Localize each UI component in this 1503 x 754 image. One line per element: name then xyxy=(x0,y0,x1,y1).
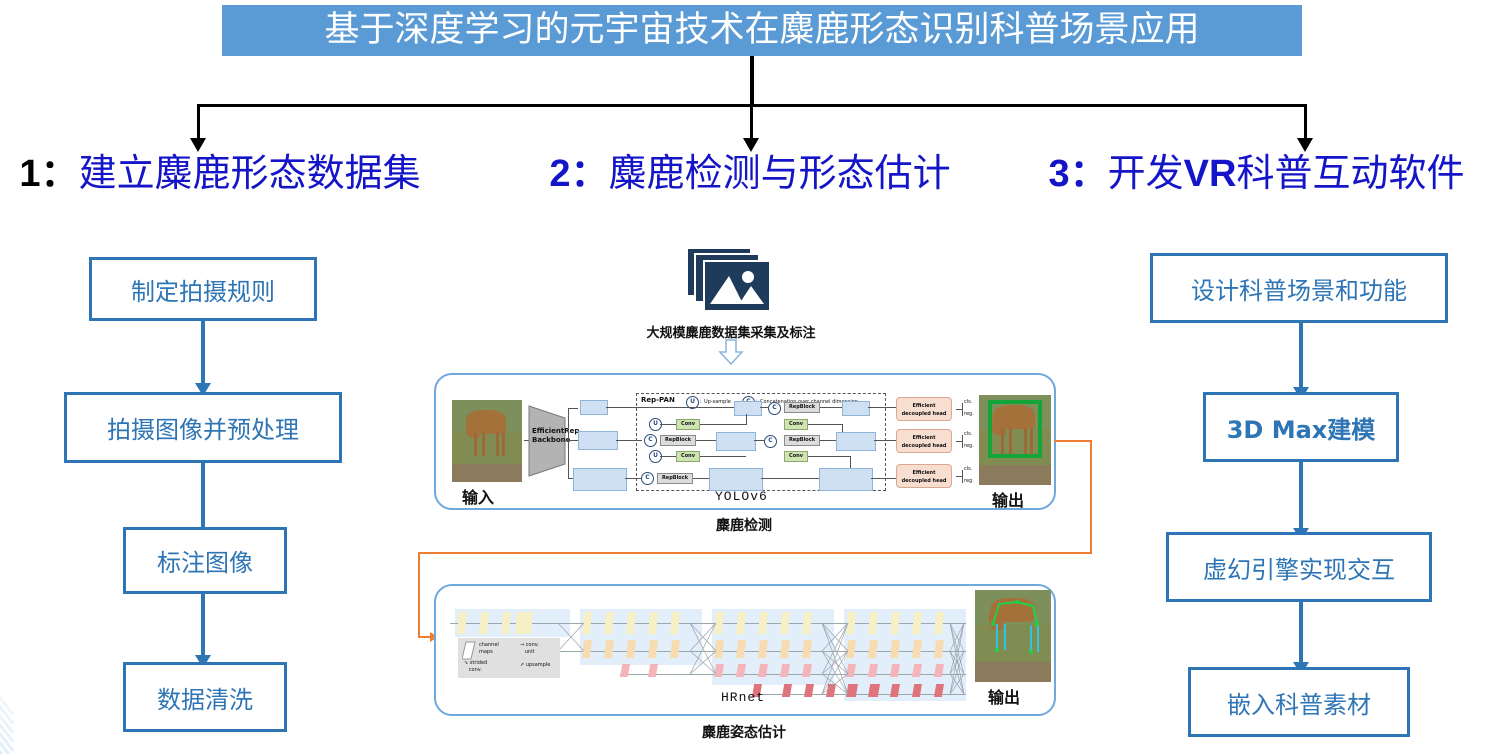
right-box-2[interactable]: 3D Max建模 xyxy=(1203,392,1399,462)
tree-drop-1 xyxy=(197,105,200,139)
concat-node-1: C xyxy=(768,402,781,415)
hrnet-legend-strided-conv: ➘ strided conv. xyxy=(464,660,487,674)
slide-canvas: 基于深度学习的元宇宙技术在麋鹿形态识别科普场景应用 1：建立麋鹿形态数据集 2：… xyxy=(0,0,1503,754)
right-arrow-3 xyxy=(1299,602,1303,664)
conv-chip-1: Conv xyxy=(676,419,700,430)
head-out-cls-1: cls. xyxy=(964,399,972,405)
section-heading-2: 2：麋鹿检测与形态估计 xyxy=(470,150,1030,196)
tree-stem xyxy=(750,56,754,106)
decoupled-head-3: Efficientdecoupled head xyxy=(896,464,952,488)
hrnet-legend-upsample: ➚ upsample xyxy=(520,662,550,669)
tree-drop-3 xyxy=(1304,105,1307,139)
pose-caption: 麋鹿姿态估计 xyxy=(634,722,854,742)
section-2-number: 2： xyxy=(549,153,608,195)
tree-drop-2 xyxy=(750,105,753,139)
left-box-3[interactable]: 标注图像 xyxy=(123,527,287,594)
detection-bbox xyxy=(988,400,1042,458)
right-box-1-label: 设计科普场景和功能 xyxy=(1191,271,1407,306)
pose-output-photo xyxy=(975,590,1051,682)
left-arrow-3 xyxy=(201,594,205,657)
left-arrow-1 xyxy=(201,321,205,385)
right-box-2-label: 3D Max建模 xyxy=(1227,410,1376,445)
section-3-label-vr: VR xyxy=(1184,153,1237,195)
left-arrow-2 xyxy=(201,463,205,529)
concat-node-2: C xyxy=(644,434,657,447)
concat-node-4: C xyxy=(641,472,654,485)
left-box-4-label: 数据清洗 xyxy=(157,680,253,715)
detection-output-photo xyxy=(979,395,1051,485)
repblock-chip-3: RepBlock xyxy=(784,435,820,446)
section-1-label: 建立麋鹿形态数据集 xyxy=(79,151,421,195)
concat-node-3: C xyxy=(764,435,777,448)
head-out-cls-2: cls. xyxy=(964,431,972,437)
left-box-4[interactable]: 数据清洗 xyxy=(123,662,287,732)
left-box-2-label: 拍摄图像并预处理 xyxy=(107,410,299,445)
section-3-label-b: 科普互动软件 xyxy=(1236,151,1464,195)
pose-output-label: 输出 xyxy=(988,684,1020,708)
connector-seg-v2 xyxy=(418,552,420,638)
hollow-down-arrow-icon xyxy=(718,339,744,365)
left-box-3-label: 标注图像 xyxy=(157,543,253,578)
head-out-reg-1: reg. xyxy=(964,411,974,417)
detection-input-label: 输入 xyxy=(462,484,494,508)
right-box-3[interactable]: 虚幻引擎实现交互 xyxy=(1166,532,1432,602)
left-box-1[interactable]: 制定拍摄规则 xyxy=(89,257,317,321)
section-heading-1: 1：建立麋鹿形态数据集 xyxy=(0,150,440,196)
right-box-3-label: 虚幻引擎实现交互 xyxy=(1203,550,1395,585)
section-3-number: 3： xyxy=(1049,153,1108,195)
up-sample-legend: ：Up-sample xyxy=(699,398,731,405)
section-3-label-a: 开发 xyxy=(1108,151,1184,195)
decoupled-head-2: Efficientdecoupled head xyxy=(896,429,952,453)
decoupled-head-1: Efficientdecoupled head xyxy=(896,397,952,421)
hrnet-legend-channel-maps: channelmaps xyxy=(479,642,499,656)
connector-seg-h2 xyxy=(418,552,1092,554)
right-box-4-label: 嵌入科普素材 xyxy=(1227,685,1371,720)
repblock-chip-4: RepBlock xyxy=(657,473,693,484)
image-stack-icon xyxy=(686,247,772,313)
detection-input-photo xyxy=(452,400,522,482)
right-arrow-1 xyxy=(1299,323,1303,389)
section-2-label: 麋鹿检测与形态估计 xyxy=(609,151,951,195)
right-box-1[interactable]: 设计科普场景和功能 xyxy=(1150,253,1448,323)
detection-caption: 麋鹿检测 xyxy=(634,515,854,535)
connector-seg-h1 xyxy=(1054,440,1092,442)
head-out-reg-3: reg. xyxy=(964,478,974,484)
backbone-label: EfficientRepBackbone xyxy=(532,427,564,445)
conv-chip-3: Conv xyxy=(784,419,808,430)
yolov6-label: YOLOv6 xyxy=(715,489,768,504)
rep-pan-title: Rep-PAN xyxy=(641,396,675,404)
hrnet-label: HRnet xyxy=(721,690,765,705)
connector-seg-v1 xyxy=(1090,440,1092,554)
corner-decoration xyxy=(0,640,46,754)
repblock-chip-2: RepBlock xyxy=(660,435,696,446)
section-heading-3: 3：开发VR科普互动软件 xyxy=(1010,150,1503,196)
right-arrow-2 xyxy=(1299,462,1303,530)
detection-output-label: 输出 xyxy=(992,487,1024,511)
right-box-4[interactable]: 嵌入科普素材 xyxy=(1188,667,1410,737)
head-out-reg-2: reg. xyxy=(964,443,974,449)
conv-chip-2: Conv xyxy=(676,451,700,462)
page-title: 基于深度学习的元宇宙技术在麋鹿形态识别科普场景应用 xyxy=(222,5,1302,56)
section-1-number: 1： xyxy=(19,153,78,195)
conv-chip-4: Conv xyxy=(784,451,808,462)
repblock-chip-1: RepBlock xyxy=(784,402,820,413)
hrnet-legend-conv-unit: → conv. unit xyxy=(520,642,539,656)
head-out-cls-3: cls. xyxy=(964,466,972,472)
left-box-1-label: 制定拍摄规则 xyxy=(131,272,275,307)
left-box-2[interactable]: 拍摄图像并预处理 xyxy=(64,392,342,463)
